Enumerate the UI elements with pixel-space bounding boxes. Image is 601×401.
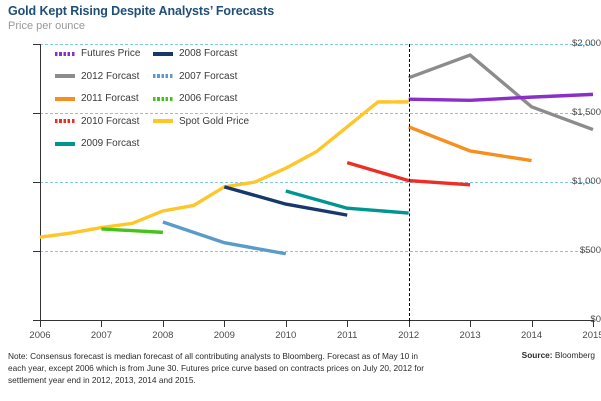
chart-note: Note: Consensus forecast is median forec… [8,350,438,386]
legend-swatch-futures-price [55,52,75,56]
legend-label-forecast-2011: 2011 Forcast [81,93,139,104]
series-line-futures-price [409,94,593,100]
legend-swatch-spot-gold-price [153,119,173,123]
source-label: Source: [522,350,553,360]
forecast-divider [409,44,410,321]
legend-label-forecast-2012: 2012 Forcast [81,71,139,82]
legend-swatch-forecast-2010 [55,119,75,123]
legend-column-1: Futures Price2012 Forcast2011 Forcast201… [55,48,140,149]
legend-item-forecast-2006[interactable]: 2006 Forcast [153,93,249,104]
series-line-2011-forcast [409,127,532,161]
legend-label-spot-gold-price: Spot Gold Price [179,116,249,127]
legend-label-forecast-2010: 2010 Forcast [81,116,139,127]
legend-label-forecast-2009: 2009 Forcast [81,138,139,149]
legend-swatch-forecast-2011 [55,97,75,101]
legend-item-forecast-2008[interactable]: 2008 Forcast [153,48,249,59]
series-line-2012-forcast [409,55,593,130]
chart-source: Source: Bloomberg [522,350,595,360]
legend-label-forecast-2007: 2007 Forcast [179,71,237,82]
series-line-2007-forcast [163,222,286,254]
source-value: Bloomberg [555,350,595,360]
legend-item-spot-gold-price[interactable]: Spot Gold Price [153,116,249,127]
legend-item-forecast-2011[interactable]: 2011 Forcast [55,93,140,104]
legend-item-futures-price[interactable]: Futures Price [55,48,140,59]
legend-swatch-forecast-2006 [153,97,173,101]
legend-column-2: 2008 Forcast2007 Forcast2006 ForcastSpot… [153,48,249,127]
legend-swatch-forecast-2007 [153,74,173,78]
legend-item-forecast-2010[interactable]: 2010 Forcast [55,116,140,127]
legend-label-futures-price: Futures Price [81,48,140,59]
legend-swatch-forecast-2009 [55,142,75,146]
legend-swatch-forecast-2008 [153,52,173,56]
legend-item-forecast-2009[interactable]: 2009 Forcast [55,138,140,149]
series-line-2009-forcast [286,191,409,213]
legend-label-forecast-2008: 2008 Forcast [179,48,237,59]
chart-root: Gold Kept Rising Despite Analysts’ Forec… [0,0,601,401]
legend-item-forecast-2007[interactable]: 2007 Forcast [153,71,249,82]
series-line-2006-forcast [101,229,162,232]
legend-swatch-forecast-2012 [55,74,75,78]
legend-item-forecast-2012[interactable]: 2012 Forcast [55,71,140,82]
legend-label-forecast-2006: 2006 Forcast [179,93,237,104]
